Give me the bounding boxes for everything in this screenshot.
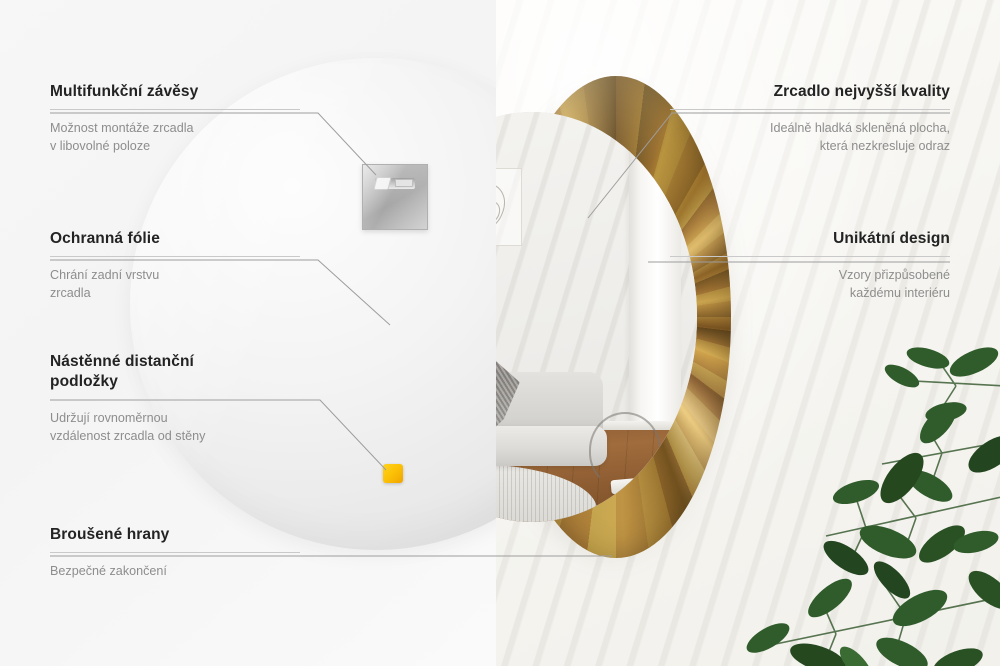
callout-spacers-body: Udržují rovnoměrnou vzdálenost zrcadla o…: [50, 409, 300, 446]
callout-edges-rule: [50, 552, 300, 553]
callout-spacers-rule: [50, 399, 300, 400]
callout-design: Unikátní design Vzory přizpůsobené každé…: [670, 229, 950, 302]
callout-edges: Broušené hrany Bezpečné zakončení: [50, 525, 300, 580]
callout-design-title: Unikátní design: [670, 229, 950, 249]
line-art-picture-icon: [496, 168, 522, 246]
callout-hangers-rule: [50, 109, 300, 110]
callout-design-rule: [670, 256, 950, 257]
callout-quality-body: Ideálně hladká skleněná plocha, která ne…: [670, 119, 950, 156]
callout-foil-body: Chrání zadní vrstvu zrcadla: [50, 266, 300, 303]
callout-quality-title: Zrcadlo nejvyšší kvality: [670, 82, 950, 102]
callout-edges-title: Broušené hrany: [50, 525, 300, 545]
callout-quality: Zrcadlo nejvyšší kvality Ideálně hladká …: [670, 82, 950, 155]
callout-spacers-title: Nástěnné distanční podložky: [50, 352, 300, 392]
infographic-canvas: Multifunkční závěsy Možnost montáže zrca…: [0, 0, 1000, 666]
callout-design-body: Vzory přizpůsobené každému interiéru: [670, 266, 950, 303]
green-leaves-branch: [706, 346, 1000, 666]
callout-edges-body: Bezpečné zakončení: [50, 562, 300, 580]
mirror-glass: [496, 112, 697, 522]
callout-foil: Ochranná fólie Chrání zadní vrstvu zrcad…: [50, 229, 300, 302]
callout-hangers: Multifunkční závěsy Možnost montáže zrca…: [50, 82, 300, 155]
callout-hangers-body: Možnost montáže zrcadla v libovolné polo…: [50, 119, 300, 156]
callout-spacers: Nástěnné distanční podložky Udržují rovn…: [50, 352, 300, 445]
keyhole-bracket-icon: [362, 164, 428, 230]
callout-hangers-title: Multifunkční závěsy: [50, 82, 300, 102]
callout-foil-rule: [50, 256, 300, 257]
yellow-square-pad-icon: [383, 464, 403, 483]
callout-quality-rule: [670, 109, 950, 110]
callout-foil-title: Ochranná fólie: [50, 229, 300, 249]
metal-sheen: [363, 165, 427, 229]
